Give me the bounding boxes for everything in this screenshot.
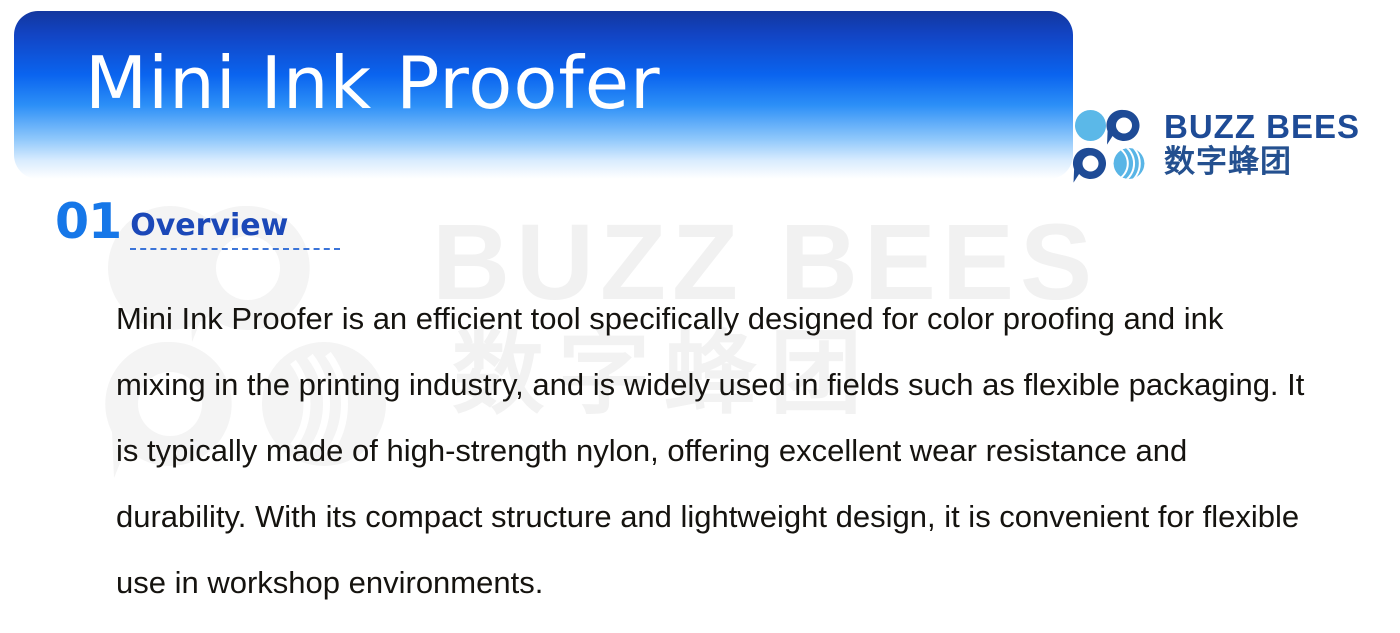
header-banner: Mini Ink Proofer (14, 11, 1073, 179)
section-number: 01 (55, 197, 121, 246)
brand-name-cn: 数字蜂团 (1164, 144, 1360, 180)
section-title-wrap: Overview (130, 210, 288, 246)
buzz-bees-logo-icon (1072, 107, 1158, 183)
slide-page: BUZZ BEES 数字蜂团 Mini Ink Proofer (0, 0, 1400, 633)
section-title: Overview (130, 210, 288, 242)
brand-lockup: BUZZ BEES 数字蜂团 (1072, 104, 1394, 186)
brand-name-en: BUZZ BEES (1164, 110, 1360, 144)
section-title-underline (130, 248, 340, 250)
page-title: Mini Ink Proofer (85, 47, 661, 119)
brand-wordmark: BUZZ BEES 数字蜂团 (1164, 110, 1360, 180)
overview-body-text: Mini Ink Proofer is an efficient tool sp… (116, 286, 1306, 616)
section-header: 01 Overview (55, 190, 288, 246)
